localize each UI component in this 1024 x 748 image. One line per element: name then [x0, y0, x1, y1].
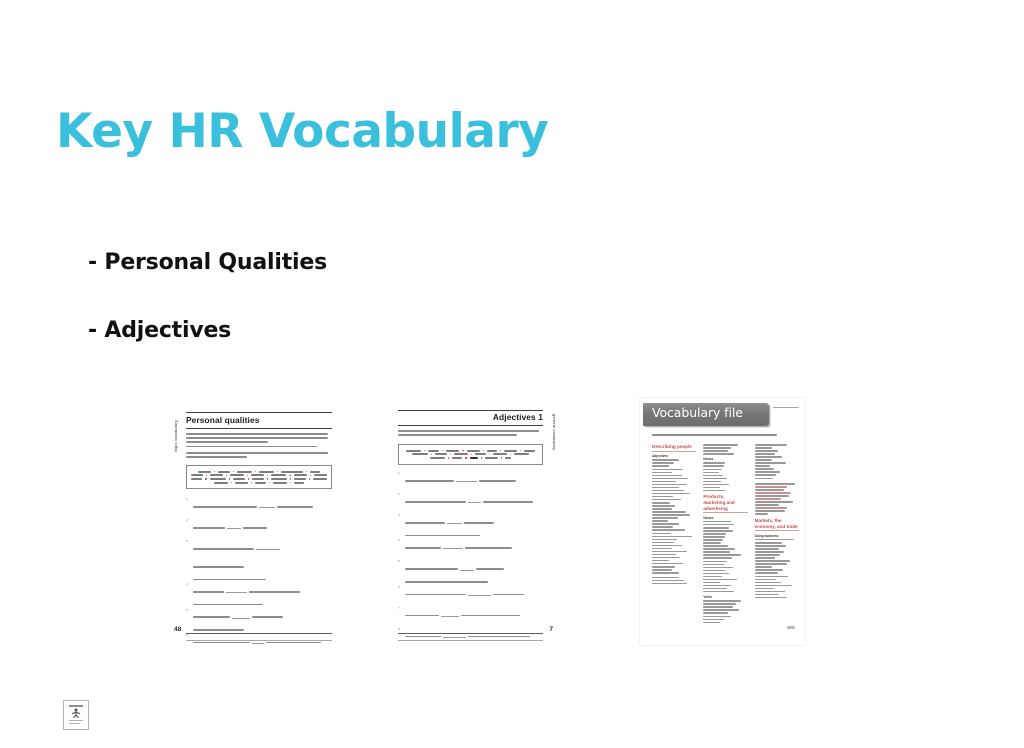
- question-number: 2: [186, 519, 193, 522]
- footer-credit-line: [186, 640, 332, 641]
- exercise-question-row: 8: [398, 628, 543, 645]
- word-lines-verbs: [703, 600, 747, 623]
- question-number: 4: [186, 583, 193, 586]
- header-rule-top: [186, 412, 332, 413]
- exercise-question-row: 1: [186, 498, 332, 516]
- subheading-doing-business: Doing business: [755, 534, 799, 538]
- exercise-question-row: 7: [398, 607, 543, 625]
- header-rule-bottom: [398, 425, 543, 426]
- question-text: [193, 498, 332, 516]
- section-heading-markets-economy: Markets, the economy, and trade: [755, 518, 799, 531]
- word-lines: [652, 459, 696, 573]
- exercise-question-row: 2: [398, 493, 543, 511]
- question-number: 4: [398, 539, 405, 542]
- word-lines: [703, 444, 747, 455]
- word-lines-nouns: [703, 462, 747, 491]
- exercise-question-row: 4: [398, 539, 543, 557]
- word-lines-products: [703, 521, 747, 593]
- question-text: [405, 560, 543, 582]
- page-title: Key HR Vocabulary: [56, 104, 548, 159]
- exercise-question-row: 2: [186, 519, 332, 537]
- worksheet-intro-text: [398, 430, 543, 438]
- exercise-question-row: 5: [398, 560, 543, 582]
- question-number: 3: [186, 540, 193, 543]
- bullet-personal-qualities: - Personal Qualities: [88, 250, 327, 275]
- side-tab-general-vocabulary: general vocabulary: [552, 414, 556, 450]
- worksheet-title: Adjectives 1: [493, 412, 543, 422]
- subheading-nouns-2: Nouns: [703, 516, 747, 520]
- question-number: 2: [398, 493, 405, 496]
- slide-canvas: Key HR Vocabulary - Personal Qualities -…: [0, 0, 1024, 748]
- exercise-question-list: 123456789101112131415161718: [398, 472, 543, 645]
- footer-rule: [398, 633, 543, 634]
- question-number: 1: [398, 472, 405, 475]
- question-number: 8: [398, 628, 405, 631]
- header-rule-top: [398, 410, 543, 411]
- word-bank-box: [186, 465, 332, 489]
- vocabulary-file-page-number: [787, 626, 795, 629]
- logo-bar-bottom: [69, 723, 80, 724]
- subheading-verbs: Verbs: [703, 595, 747, 599]
- vocabulary-columns: Describing people Adjectives: [652, 444, 799, 633]
- side-tab-topic-vocabulary: topic vocabulary: [174, 420, 178, 452]
- question-text: [193, 540, 332, 580]
- exercise-question-list: 1234567891011121314151617181920212223242…: [186, 498, 332, 645]
- vocabulary-column-1: Describing people Adjectives: [652, 444, 696, 633]
- bullet-adjectives: - Adjectives: [88, 318, 231, 343]
- question-text: [405, 472, 543, 490]
- document-thumbnail-personal-qualities[interactable]: topic vocabulary Personal qualities 1234…: [172, 402, 340, 645]
- word-lines-tail: [652, 577, 696, 585]
- document-thumbnail-adjectives-1[interactable]: general vocabulary Adjectives 1 12345678…: [390, 400, 557, 645]
- logo-figure-icon: [70, 708, 82, 718]
- exercise-question-row: 5: [186, 609, 332, 631]
- question-text: [405, 539, 543, 557]
- logo-bar-mid: [69, 720, 83, 721]
- corner-label: [773, 407, 799, 408]
- footer-credit-line: [398, 640, 543, 641]
- question-number: 6: [186, 634, 193, 637]
- question-number: 5: [398, 560, 405, 563]
- section-heading-describing-people: Describing people: [652, 444, 696, 452]
- page-number: 48: [174, 626, 181, 633]
- page-number: 7: [549, 626, 553, 633]
- question-text: [193, 519, 332, 537]
- vocabulary-file-title: Vocabulary file: [652, 405, 743, 420]
- word-lines: [755, 444, 799, 479]
- logo-bar-top: [69, 705, 83, 707]
- publisher-logo: [63, 700, 89, 730]
- header-rule-bottom: [186, 428, 332, 429]
- question-number: 6: [398, 586, 405, 589]
- worksheet-instruction-text: [186, 452, 332, 460]
- question-text: [405, 514, 543, 536]
- exercise-question-row: 3: [398, 514, 543, 536]
- question-text: [193, 583, 332, 605]
- question-text: [193, 609, 332, 631]
- exercise-question-row: 6: [398, 586, 543, 604]
- question-number: 3: [398, 514, 405, 517]
- section-heading-products-marketing: Products, marketing and advertising: [703, 494, 747, 513]
- question-text: [405, 586, 543, 604]
- worksheet-intro-text: [186, 433, 332, 450]
- footer-rule: [186, 633, 332, 634]
- vocabulary-column-2: Nouns Products, marketing and advertisin…: [703, 444, 747, 633]
- worksheet-title: Personal qualities: [186, 415, 259, 425]
- vocabulary-file-note: [652, 434, 797, 436]
- question-number: 1: [186, 498, 193, 501]
- exercise-question-row: 3: [186, 540, 332, 580]
- exercise-question-row: 4: [186, 583, 332, 605]
- question-text: [405, 607, 543, 625]
- word-lines-markets: [755, 539, 799, 598]
- subheading-nouns: Nouns: [703, 457, 747, 461]
- document-thumbnail-vocabulary-file[interactable]: Vocabulary file Describing people Adject…: [640, 398, 805, 645]
- question-number: 7: [398, 607, 405, 610]
- vocabulary-column-3: Markets, the economy, and trade Doing bu…: [755, 444, 799, 633]
- question-text: [405, 493, 543, 511]
- exercise-question-row: 1: [398, 472, 543, 490]
- question-text: [405, 628, 543, 645]
- word-bank-box: [398, 444, 543, 465]
- question-number: 5: [186, 609, 193, 612]
- subheading-adjectives: Adjectives: [652, 454, 696, 458]
- word-lines-phrases: [755, 483, 799, 515]
